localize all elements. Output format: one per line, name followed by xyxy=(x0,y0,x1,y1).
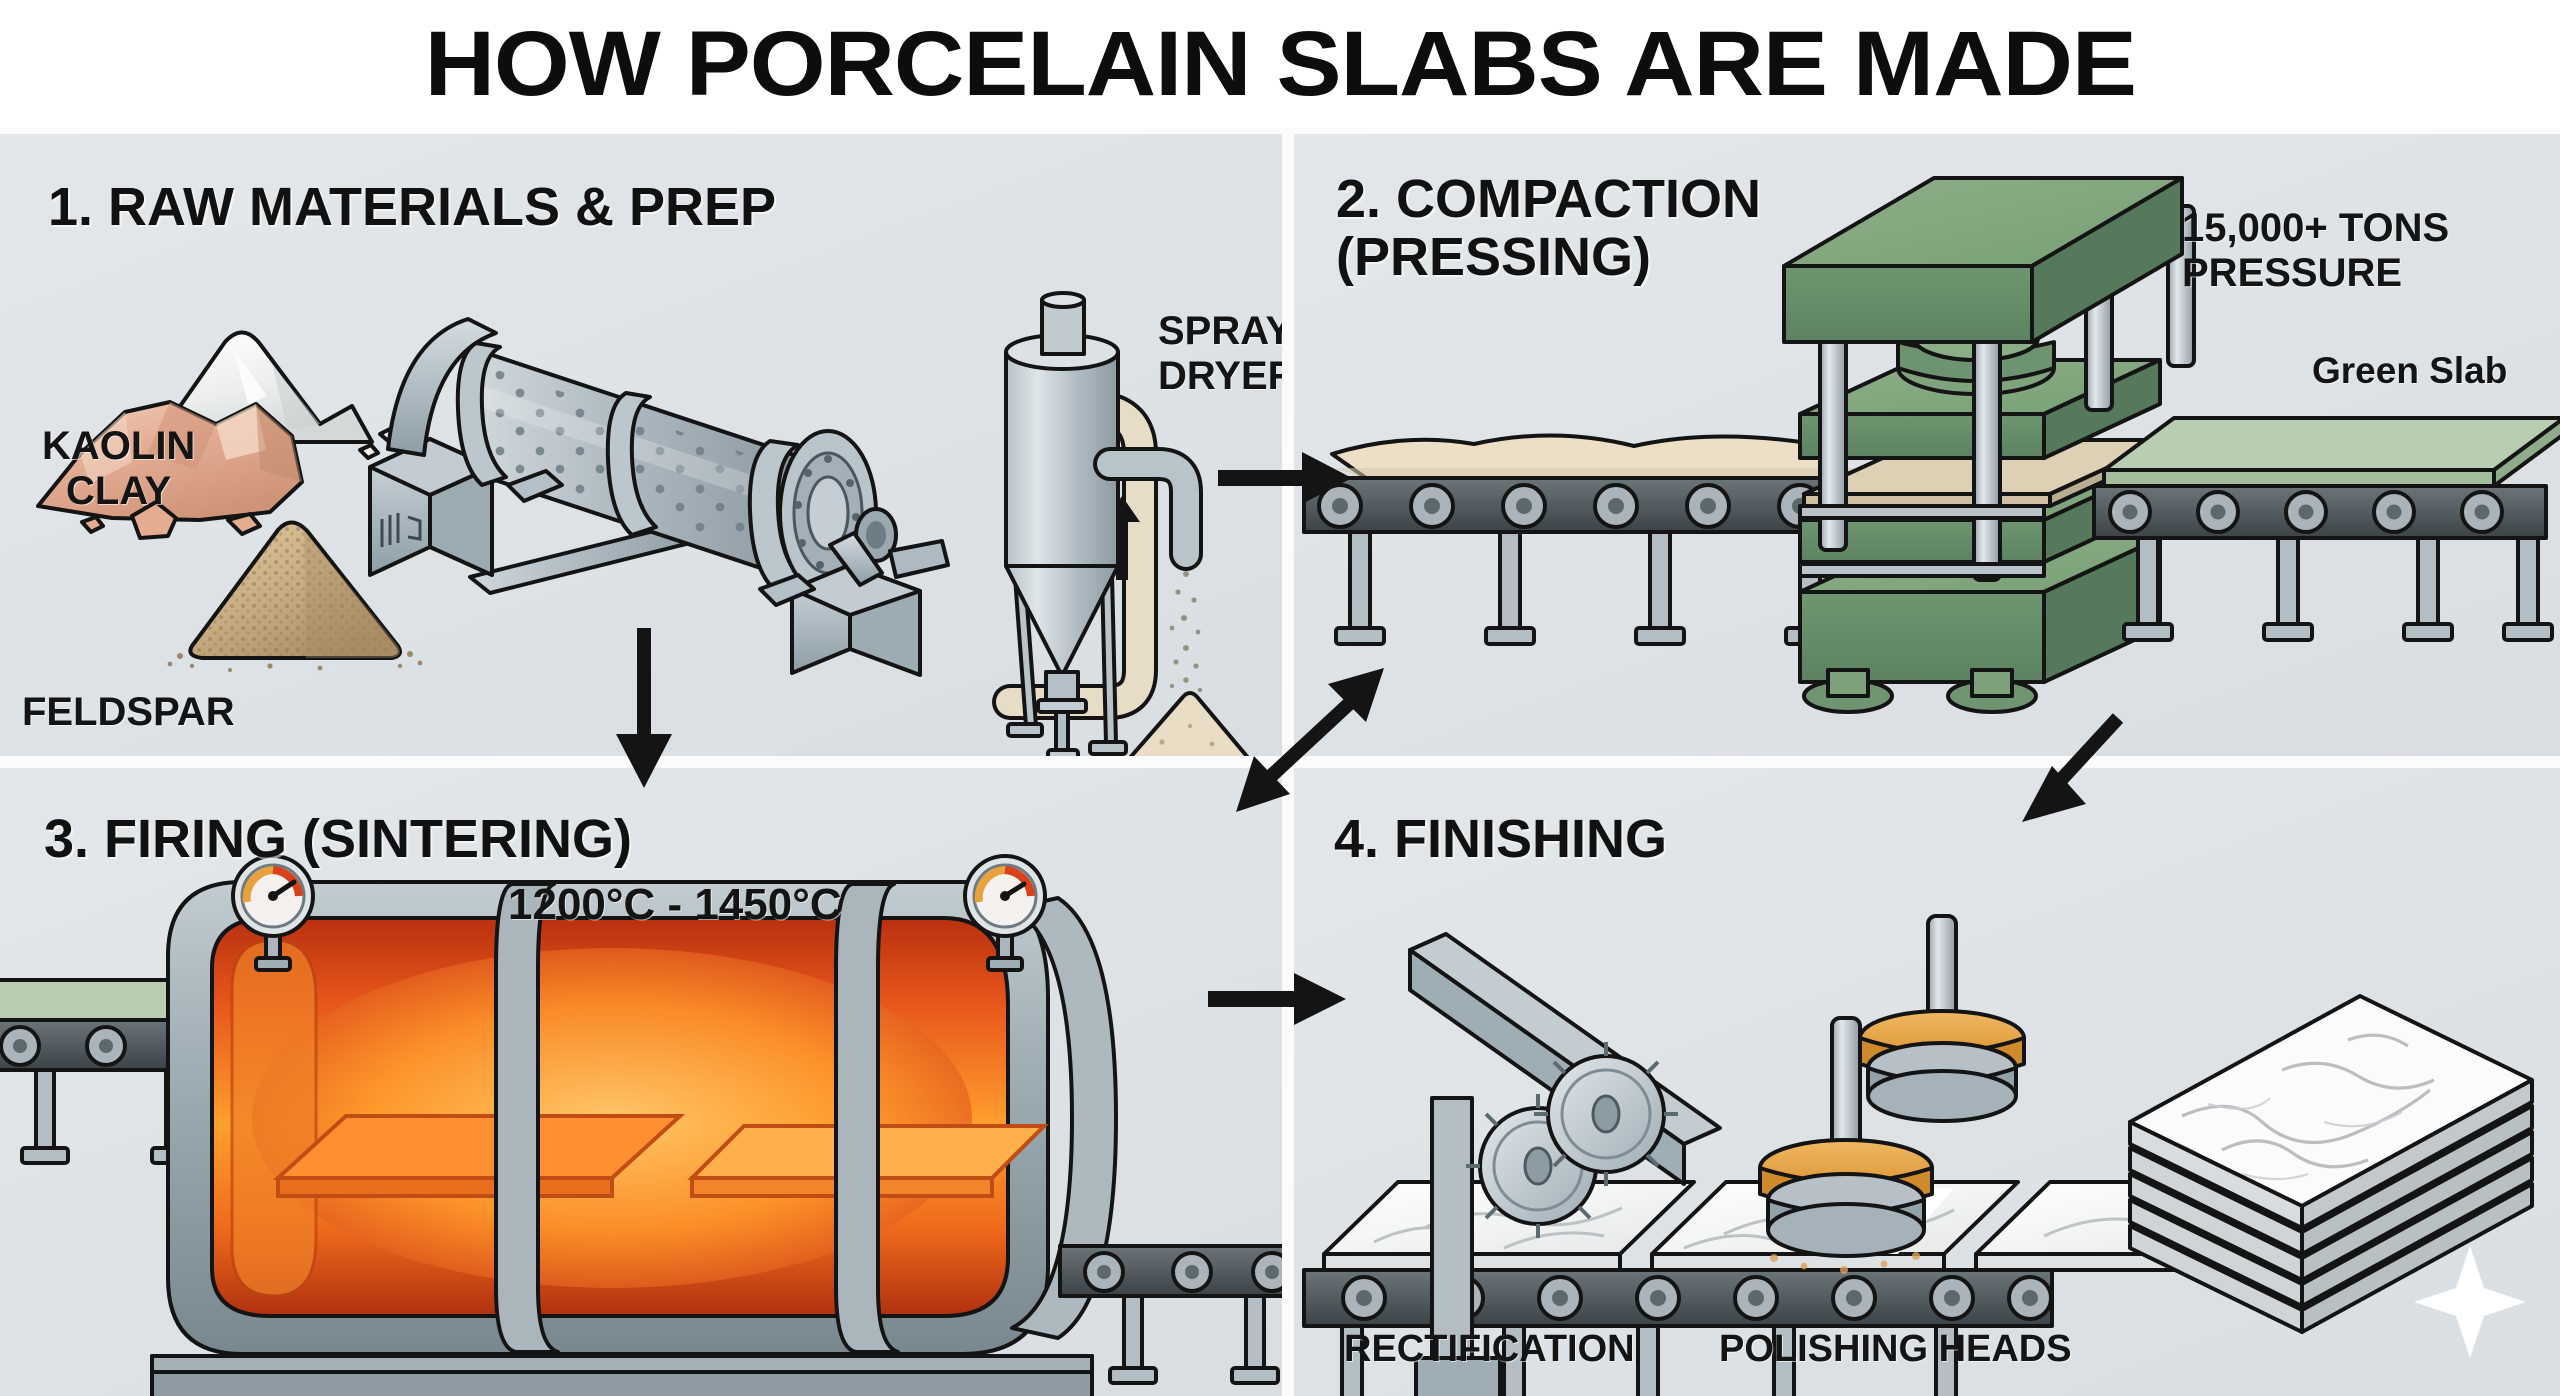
panel-compaction: 2. COMPACTION (PRESSING) xyxy=(1294,134,2560,756)
finished-slab-stack xyxy=(2112,958,2560,1358)
temperature-gauge-right xyxy=(950,850,1060,980)
title-bar: HOW PORCELAIN SLABS ARE MADE xyxy=(0,0,2560,128)
mill-drum xyxy=(458,343,896,595)
spray-dryer-label: SPRAY DRYER xyxy=(1158,309,1282,399)
arrow-step1-to-step2 xyxy=(1210,430,1360,530)
green-slab-label: Green Slab xyxy=(2312,350,2507,391)
arrow-step2-to-step4 xyxy=(1990,700,2170,850)
outfeed-conveyor xyxy=(2094,392,2560,732)
panel-finishing: 4. FINISHING xyxy=(1294,768,2560,1396)
rectification-label: RECTIFICATION xyxy=(1344,1328,1635,1371)
temperature-gauge-left xyxy=(218,850,328,980)
pressure-label: 15,000+ TONS PRESSURE xyxy=(2182,206,2449,296)
arrow-step3-to-step4 xyxy=(1200,955,1360,1045)
panel-2-heading: 2. COMPACTION (PRESSING) xyxy=(1336,170,1761,287)
kaolin-clay-label: KAOLIN CLAY xyxy=(42,424,195,514)
kiln-exit-conveyor xyxy=(1060,1198,1282,1396)
polishing-head-rear xyxy=(1860,916,2024,1121)
page-title: HOW PORCELAIN SLABS ARE MADE xyxy=(424,12,2135,117)
panel-firing: 3. FIRING (SINTERING) xyxy=(0,768,1282,1396)
feldspar-label: FELDSPAR xyxy=(22,690,235,735)
arrow-step1-to-step3 xyxy=(592,620,702,810)
panel-3-heading: 3. FIRING (SINTERING) xyxy=(44,810,632,868)
panel-1-heading: 1. RAW MATERIALS & PREP xyxy=(48,178,776,236)
saw-blade-right xyxy=(1534,1042,1678,1186)
infographic-page: HOW PORCELAIN SLABS ARE MADE 1. RAW MATE… xyxy=(0,0,2560,1396)
arrow-step2-to-step3 xyxy=(1196,650,1426,850)
temperature-label: 1200°C - 1450°C xyxy=(508,880,842,929)
polishing-heads-label: POLISHING HEADS xyxy=(1719,1328,2072,1371)
